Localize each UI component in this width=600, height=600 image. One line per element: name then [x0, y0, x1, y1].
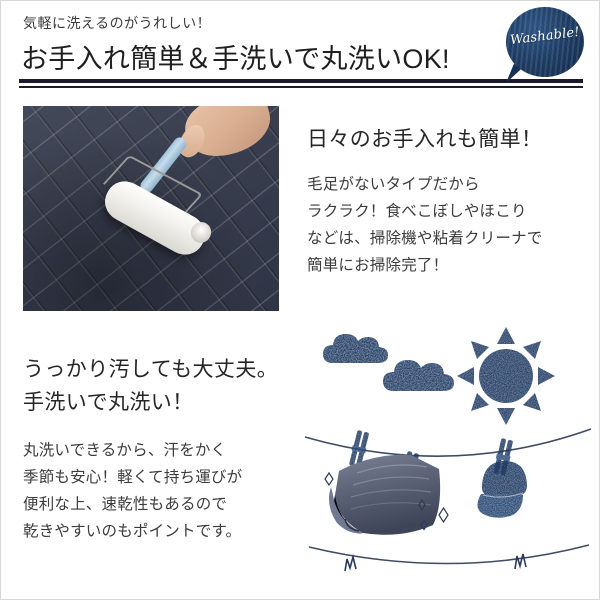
wash-body-line: 乾きやすいのもポイントです。	[23, 518, 303, 545]
lint-roller-photo	[23, 106, 279, 311]
cloud-icon	[323, 334, 388, 363]
promo-page: 気軽に洗えるのがうれしい！ お手入れ簡単＆手洗いで丸洗いOK! Washable…	[0, 0, 600, 600]
wash-heading-line-1: うっかり汚しても大丈夫。	[23, 353, 303, 386]
wash-body-line: 季節も安心！軽くて持ち運びが	[23, 464, 303, 491]
wash-body-line: 丸洗いできるから、汗をかく	[23, 437, 303, 464]
wash-heading: うっかり汚しても大丈夫。 手洗いで丸洗い！	[23, 353, 303, 419]
sparkle-icon	[345, 554, 526, 571]
header: 気軽に洗えるのがうれしい！ お手入れ簡単＆手洗いで丸洗いOK! Washable…	[1, 1, 600, 93]
clothesline-icon	[305, 429, 591, 456]
care-body-line: 簡単にお掃除完了！	[307, 252, 597, 279]
care-section: 日々のお手入れも簡単！ 毛足がないタイプだから ラクラク！食べこぼしやほこり な…	[307, 123, 597, 279]
lower-clothesline-icon	[309, 545, 589, 564]
sun-icon	[457, 327, 555, 425]
wash-body: 丸洗いできるから、汗をかく 季節も安心！軽くて持ち運びが 便利な上、速乾性もある…	[23, 437, 303, 545]
illustration-canvas	[301, 319, 600, 591]
care-body: 毛足がないタイプだから ラクラク！食べこぼしやほこり などは、掃除機や粘着クリー…	[307, 171, 597, 279]
wash-heading-line-2: 手洗いで丸洗い！	[23, 386, 303, 419]
cloud-icon	[383, 360, 454, 391]
care-heading: 日々のお手入れも簡単！	[307, 123, 597, 153]
care-body-line: などは、掃除機や粘着クリーナで	[307, 225, 597, 252]
eyebrow-text: 気軽に洗えるのがうれしい！	[23, 13, 211, 33]
care-body-line: ラクラク！食べこぼしやほこり	[307, 198, 597, 225]
laundry-illustration	[301, 319, 600, 591]
wash-section: うっかり汚しても大丈夫。 手洗いで丸洗い！ 丸洗いできるから、汗をかく 季節も安…	[23, 353, 303, 545]
cap-icon	[477, 461, 527, 518]
folded-mat-icon	[329, 455, 440, 535]
wash-body-line: 便利な上、速乾性もあるので	[23, 491, 303, 518]
washable-badge: Washable!	[498, 7, 584, 89]
page-title: お手入れ簡単＆手洗いで丸洗いOK!	[21, 37, 450, 76]
care-body-line: 毛足がないタイプだから	[307, 171, 597, 198]
